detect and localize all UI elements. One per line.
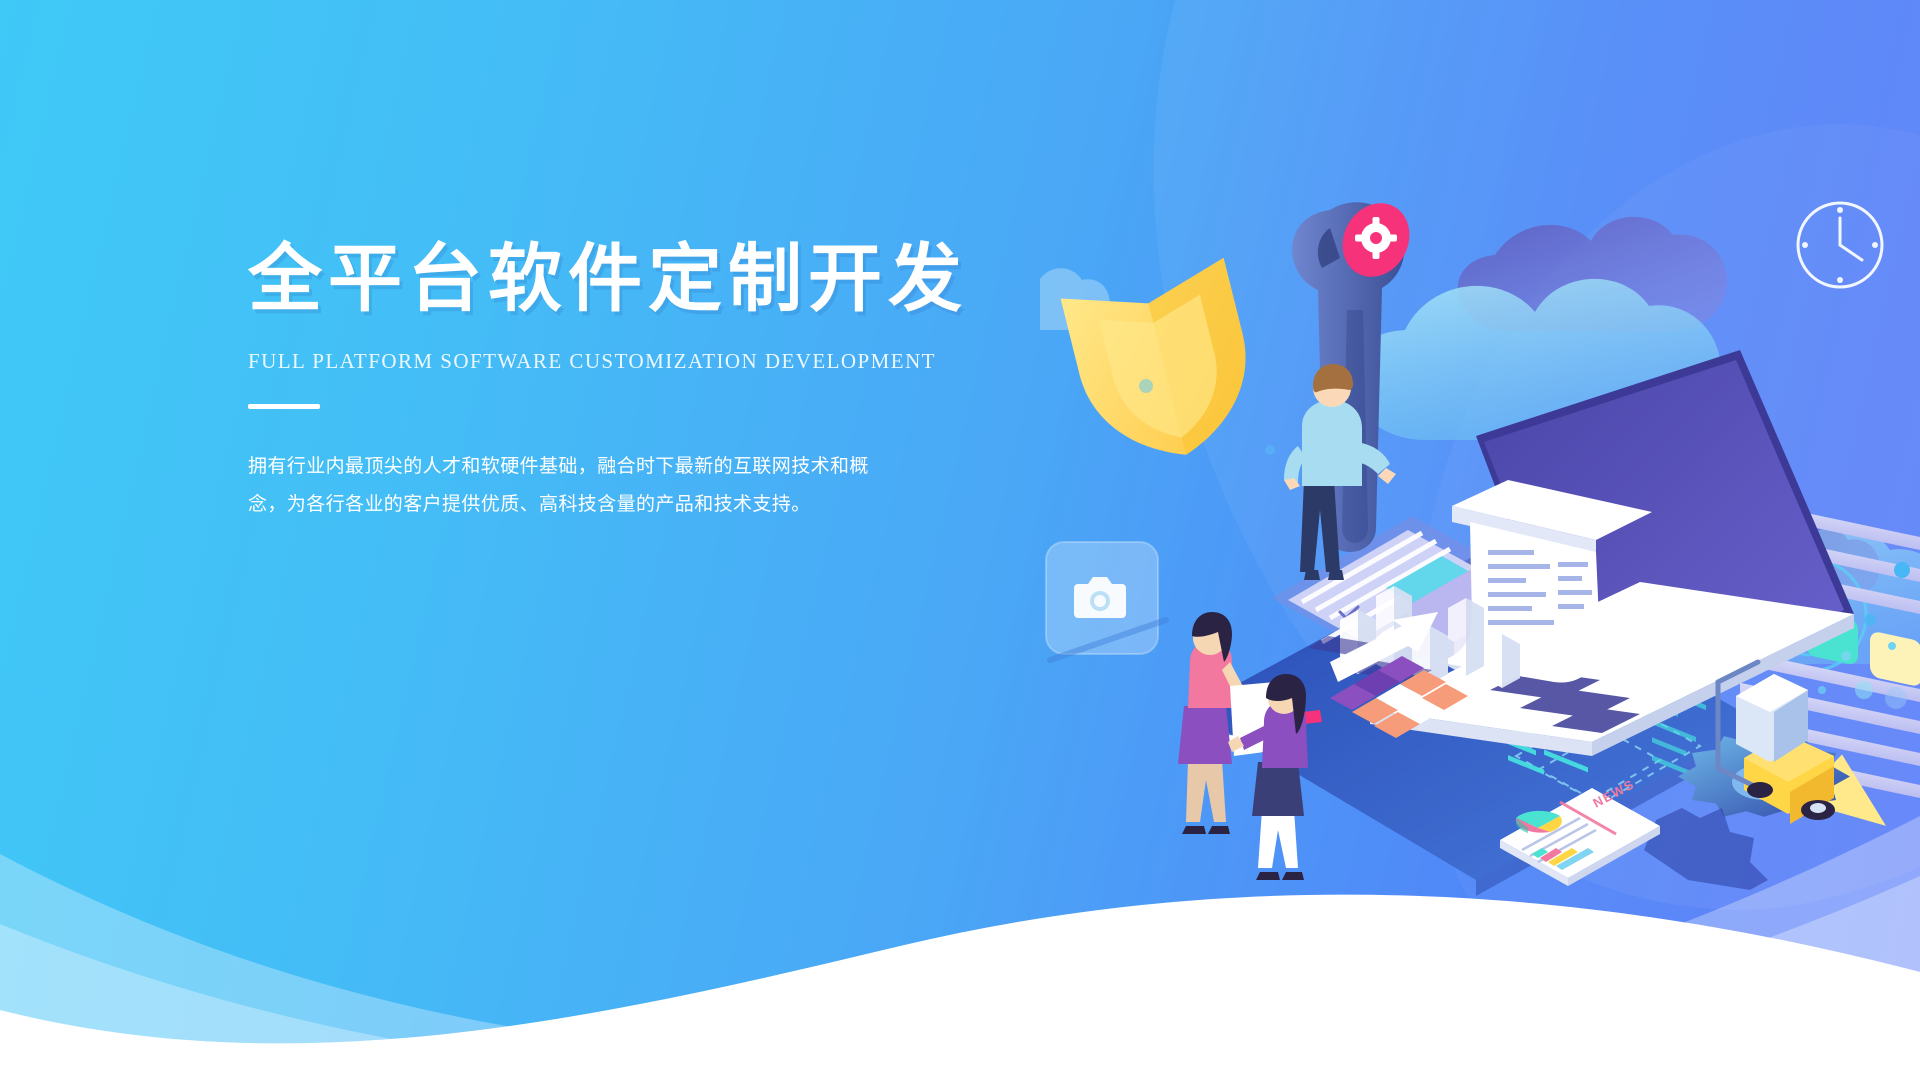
page-title: 全平台软件定制开发 [248,238,1028,321]
title-divider [248,404,320,409]
wave-white-main [0,895,1920,1080]
page-subtitle: FULL PLATFORM SOFTWARE CUSTOMIZATION DEV… [248,349,1028,374]
hero-illustration: NEWS [1040,150,1920,910]
hero-banner: NEWS [0,0,1920,1080]
hero-description: 拥有行业内最顶尖的人才和软硬件基础，融合时下最新的互联网技术和概念，为各行各业的… [248,447,888,523]
hero-copy: 全平台软件定制开发 FULL PLATFORM SOFTWARE CUSTOMI… [248,238,1028,523]
camera-card-icon [1046,542,1166,660]
clock-icon [1798,203,1882,287]
